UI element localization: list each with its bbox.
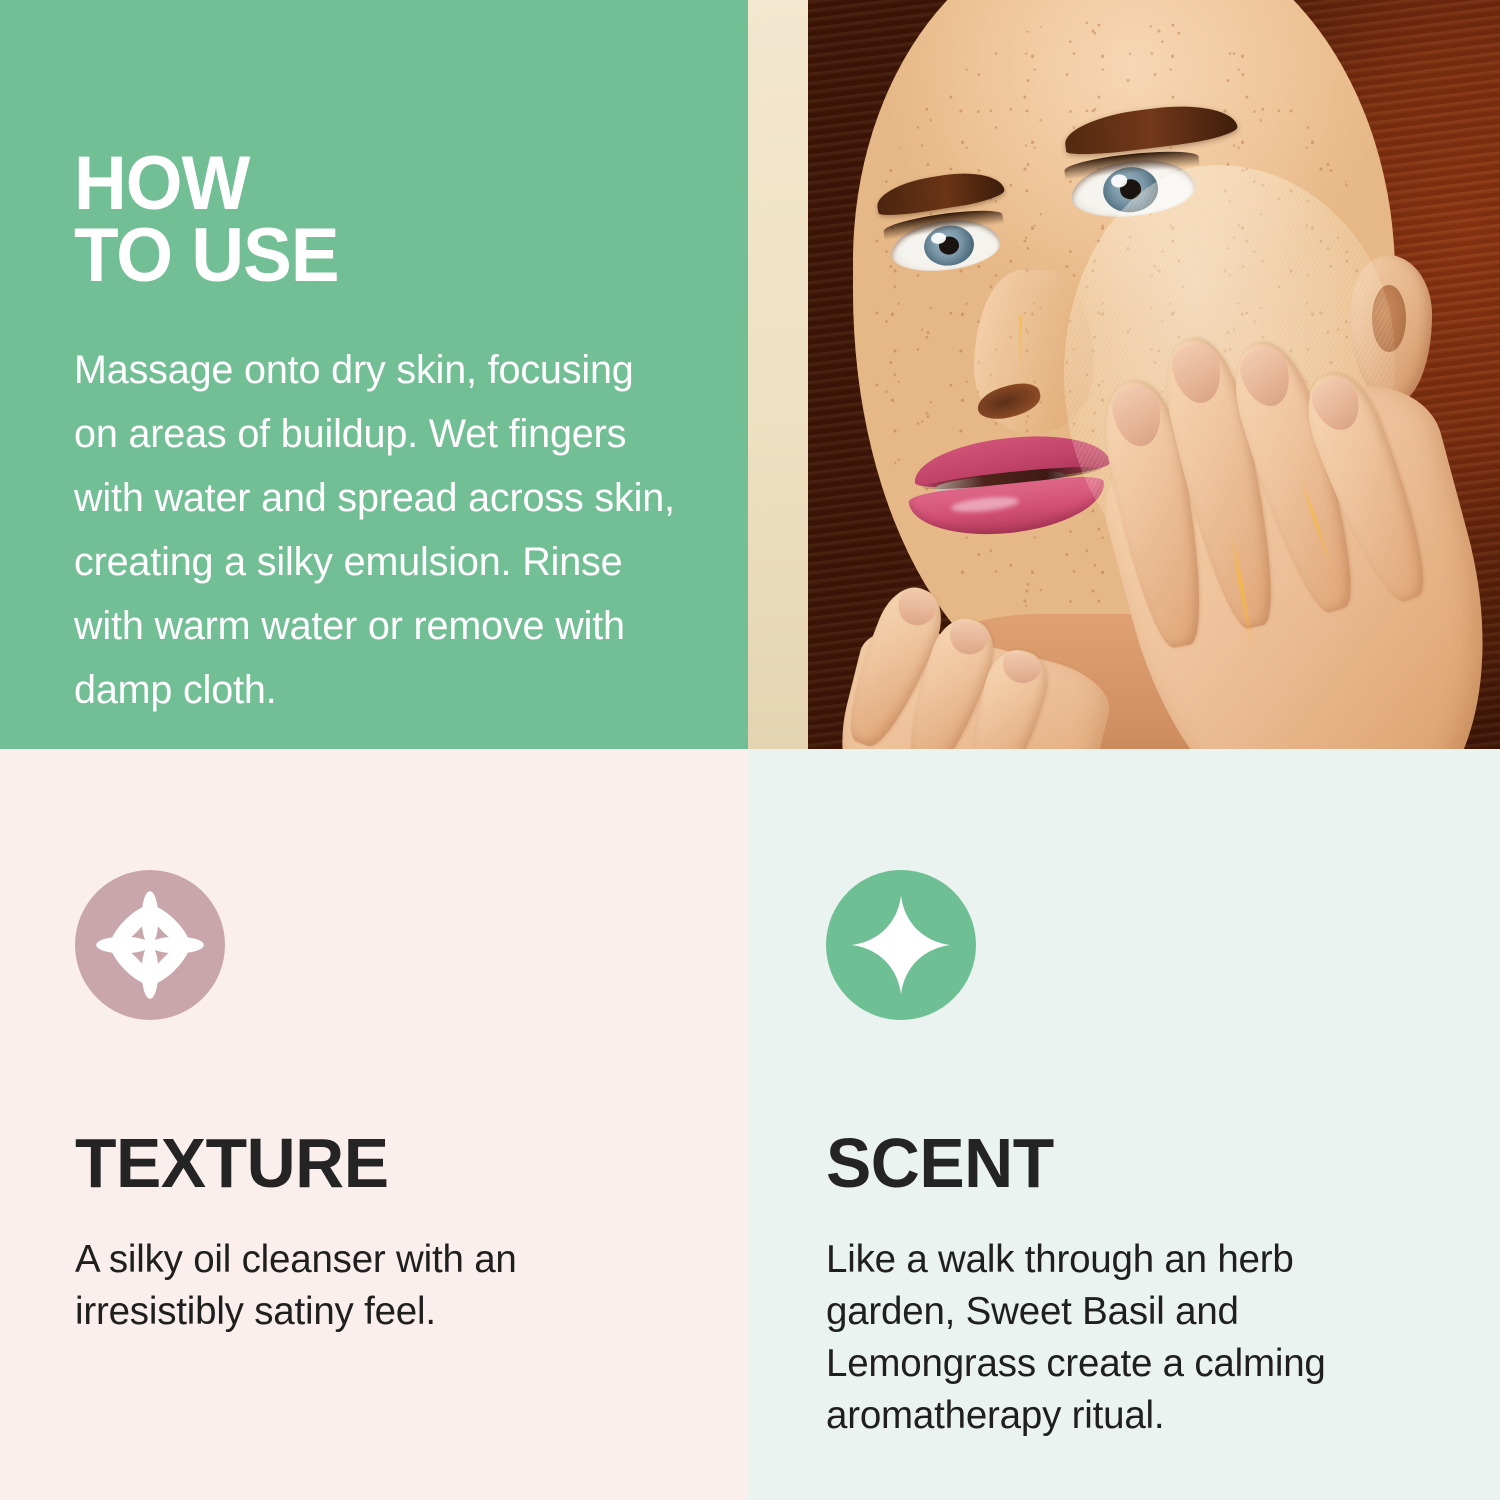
scent-panel: SCENT Like a walk through an herb garden… [748,749,1500,1500]
oil-droplet [1019,315,1022,377]
scent-title: SCENT [826,1128,1422,1198]
sparkle-star-icon [826,870,976,1020]
flower-burst-icon [75,870,225,1020]
texture-title: TEXTURE [75,1128,670,1198]
model-portrait-photo [748,0,1500,749]
fingernail [1109,384,1166,451]
texture-body: A silky oil cleanser with an irresistibl… [75,1234,635,1338]
texture-panel: TEXTURE A silky oil cleanser with an irr… [0,749,748,1500]
how-to-use-body: Massage onto dry skin, focusing on areas… [74,338,686,722]
how-to-use-title: HOW TO USE [74,148,662,292]
product-detail-panel: HOW TO USE Massage onto dry skin, focusi… [0,0,1500,1500]
scent-body: Like a walk through an herb garden, Swee… [826,1234,1396,1442]
how-to-use-panel: HOW TO USE Massage onto dry skin, focusi… [0,0,748,749]
model-photo [748,0,1500,749]
